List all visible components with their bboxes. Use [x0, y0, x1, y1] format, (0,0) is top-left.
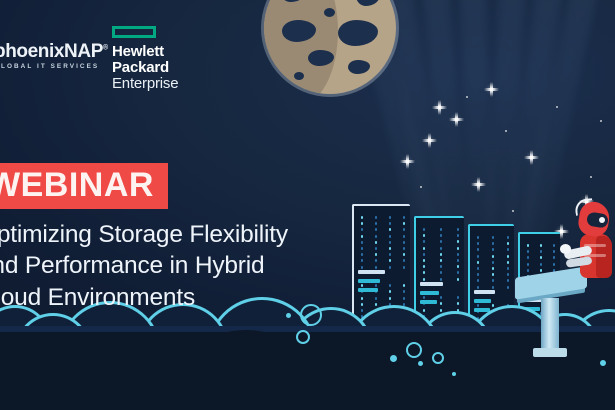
robot-eye [599, 217, 605, 223]
server-led [375, 266, 377, 269]
server-led [375, 216, 377, 219]
robot-body-shadow [596, 236, 612, 278]
cloud-bubble-filled [452, 372, 456, 376]
hpe-green-bar-icon [112, 26, 156, 38]
server-led [440, 253, 442, 256]
server-led [527, 244, 529, 247]
cloud-bubble [296, 330, 310, 344]
server-led [403, 216, 405, 219]
cloud-bubble [432, 352, 444, 364]
server-led [477, 261, 479, 264]
cloud-foreground-puff [10, 346, 100, 410]
server-led [389, 216, 391, 219]
star-dot-icon [600, 120, 602, 122]
server-led [553, 244, 555, 247]
star-icon [428, 139, 430, 141]
star-icon [438, 106, 440, 108]
server-led [457, 247, 459, 250]
server-led [403, 235, 405, 238]
server-led [477, 267, 479, 270]
star-dot-icon [505, 130, 507, 132]
phoenixnap-word-nap: NAP [64, 41, 103, 62]
webinar-badge-label: WEBINAR [0, 168, 154, 203]
moon-crater [338, 20, 378, 46]
star-dot-icon [556, 106, 558, 108]
cloud-bubble-filled [600, 360, 606, 366]
cloud-bubble [406, 342, 422, 358]
server-led [492, 255, 494, 258]
server-led [457, 228, 459, 231]
cloud-foreground-puff [386, 338, 496, 410]
star-icon [455, 118, 457, 120]
cloud-bubble-filled [390, 355, 397, 362]
server-led [507, 261, 509, 264]
server-led [553, 263, 555, 266]
star-icon [560, 230, 562, 232]
hpe-logo: Hewlett Packard Enterprise [112, 26, 178, 91]
cloud-foreground-puff [186, 330, 306, 410]
server-led [440, 247, 442, 250]
hpe-line-1: Hewlett Packard [112, 44, 178, 76]
star-icon [530, 156, 532, 158]
server-led [389, 235, 391, 238]
server-led [403, 247, 405, 250]
phoenixnap-trademark: ® [103, 45, 108, 52]
headline-line-2: and Performance in Hybrid [0, 250, 368, 281]
moon-crater [348, 60, 370, 74]
server-led [403, 266, 405, 269]
server-led [423, 253, 425, 256]
server-led [507, 236, 509, 239]
phoenixnap-logo: phoenixNAP® GLOBAL IT SERVICES [0, 42, 108, 70]
server-led [477, 236, 479, 239]
podium-column [541, 298, 559, 350]
robot-mascot [566, 196, 615, 300]
server-led [507, 267, 509, 270]
server-led [389, 241, 391, 244]
star-icon [477, 183, 479, 185]
server-led [492, 236, 494, 239]
server-led [477, 255, 479, 258]
star-dot-icon [466, 96, 468, 98]
server-led [375, 247, 377, 250]
server-led [540, 244, 542, 247]
server-led [375, 235, 377, 238]
webinar-banner: phoenixNAP® GLOBAL IT SERVICES Hewlett P… [0, 0, 615, 410]
server-led [440, 228, 442, 231]
server-led [389, 266, 391, 269]
server-led [492, 267, 494, 270]
server-led [423, 228, 425, 231]
server-led [540, 263, 542, 266]
cloud-foreground-puff [88, 336, 198, 410]
cloud-bubble-filled [286, 313, 291, 318]
moon-crater [324, 8, 335, 17]
headline-line-3: Cloud Environments [0, 282, 368, 313]
podium-base [533, 348, 567, 357]
server-led [457, 253, 459, 256]
moon-crater [294, 72, 304, 80]
server-led [492, 261, 494, 264]
server-led [423, 247, 425, 250]
server-led [457, 259, 459, 262]
page-title: Optimizing Storage Flexibility and Perfo… [0, 219, 368, 313]
server-led [423, 259, 425, 262]
star-icon [490, 88, 492, 90]
star-icon [406, 160, 408, 162]
moon-crater [356, 0, 380, 6]
phoenixnap-word-phoenix: phoenix [0, 41, 64, 62]
robot-hand [560, 244, 571, 254]
star-dot-icon [420, 186, 422, 188]
cloud-bubble-filled [418, 361, 423, 366]
server-led [440, 259, 442, 262]
phoenixnap-tagline: GLOBAL IT SERVICES [0, 63, 108, 70]
hpe-line-2: Enterprise [112, 76, 178, 92]
server-led [507, 255, 509, 258]
cloud-foreground-puff [296, 342, 396, 410]
star-dot-icon [590, 176, 592, 178]
server-led [389, 247, 391, 250]
server-led [375, 241, 377, 244]
phoenixnap-wordmark: phoenixNAP® [0, 42, 108, 61]
webinar-badge: WEBINAR [0, 163, 168, 209]
server-led [403, 241, 405, 244]
headline-line-1: Optimizing Storage Flexibility [0, 219, 368, 250]
server-led [527, 263, 529, 266]
